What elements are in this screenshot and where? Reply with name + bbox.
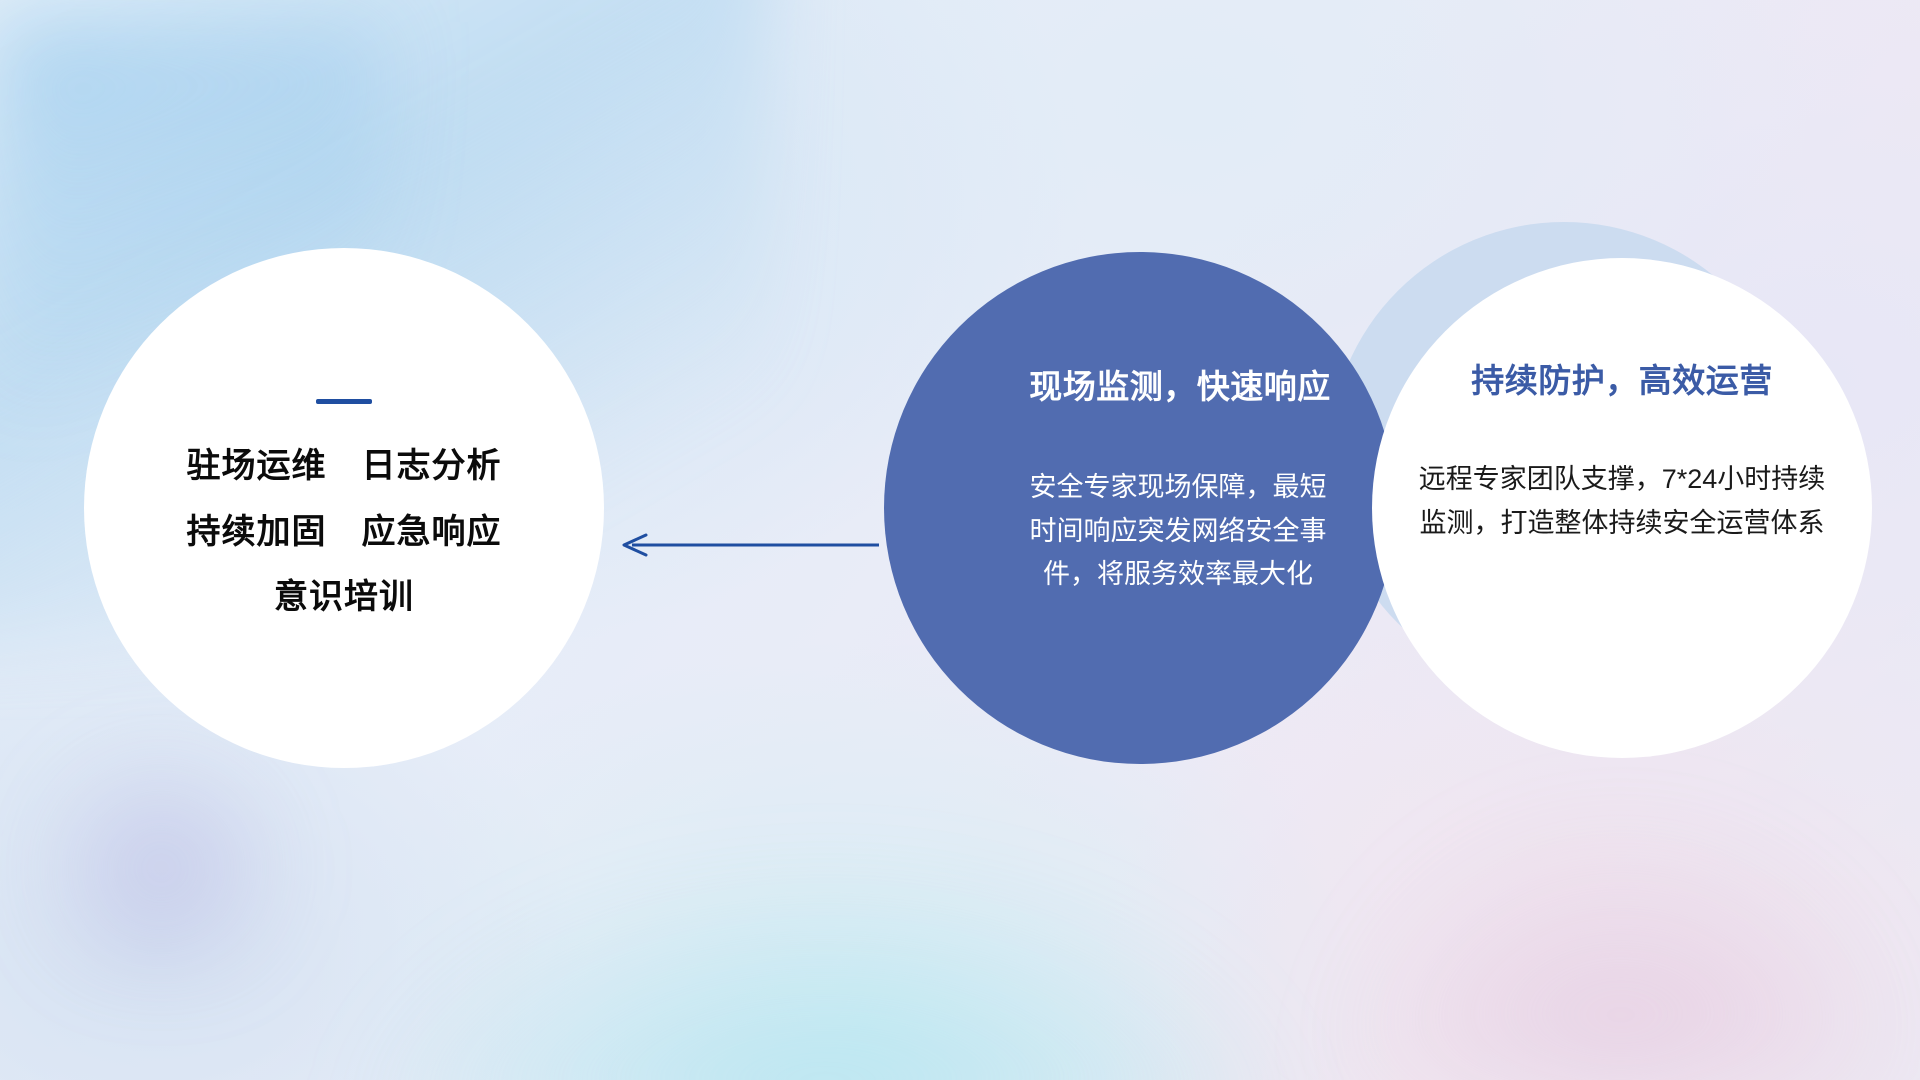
background-sheen-bottom-right xyxy=(1229,713,1882,1080)
background-sheen-bottom-center xyxy=(269,756,1383,1080)
slide-canvas: 驻场运维 日志分析 持续加固 应急响应 意识培训 现场监测，快速响应 安全专家现… xyxy=(0,0,1920,1080)
capabilities-circle-content: 驻场运维 日志分析 持续加固 应急响应 意识培训 xyxy=(84,248,604,768)
flow-arrow-left-icon xyxy=(618,532,880,558)
title-divider-rule xyxy=(316,399,372,404)
capabilities-list: 驻场运维 日志分析 持续加固 应急响应 意识培训 xyxy=(187,448,502,616)
capabilities-line-2: 持续加固 应急响应 xyxy=(187,514,502,551)
continuous-protection-circle-shape[interactable] xyxy=(1372,258,1872,758)
capabilities-line-1: 驻场运维 日志分析 xyxy=(187,448,502,485)
onsite-monitoring-circle-shape[interactable] xyxy=(884,252,1396,764)
capabilities-line-3: 意识培训 xyxy=(274,579,414,616)
